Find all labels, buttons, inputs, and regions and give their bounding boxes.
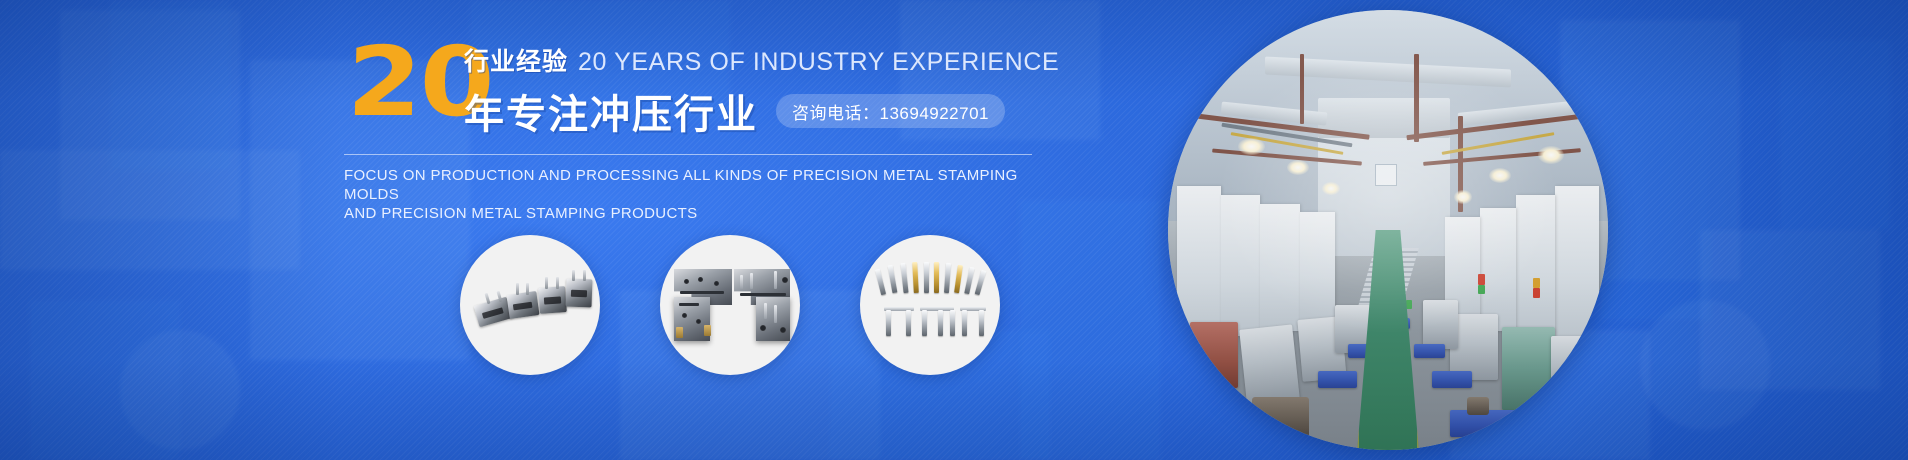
headline-line-top: 行业经验 20 YEARS OF INDUSTRY EXPERIENCE: [464, 42, 1059, 78]
connector-shells-image: [460, 235, 600, 375]
photo-lighting-overlay: [1168, 10, 1608, 450]
promo-banner: 20 行业经验 20 YEARS OF INDUSTRY EXPERIENCE …: [0, 0, 1908, 460]
stamping-die-image: [660, 235, 800, 375]
subtitle-text: FOCUS ON PRODUCTION AND PROCESSING ALL K…: [344, 166, 1044, 223]
product-circle-metal-connector-shells[interactable]: [460, 235, 600, 375]
experience-label-cn: 行业经验: [464, 42, 568, 78]
experience-label-en: 20 YEARS OF INDUSTRY EXPERIENCE: [578, 48, 1059, 77]
subtitle-line-1: FOCUS ON PRODUCTION AND PROCESSING ALL K…: [344, 166, 1044, 204]
contact-phone-badge[interactable]: 咨询电话：13694922701: [776, 94, 1005, 128]
metal-terminals-image: [860, 235, 1000, 375]
factory-workshop-photo[interactable]: [1168, 10, 1608, 450]
subtitle-line-2: AND PRECISION METAL STAMPING PRODUCTS: [344, 204, 1044, 223]
headline-row: 20 行业经验 20 YEARS OF INDUSTRY EXPERIENCE …: [340, 38, 1100, 138]
industry-focus-cn: 年专注冲压行业: [464, 82, 758, 140]
headline-texts: 行业经验 20 YEARS OF INDUSTRY EXPERIENCE 年专注…: [464, 42, 1059, 140]
headline-line-main: 年专注冲压行业 咨询电话：13694922701: [464, 82, 1059, 140]
product-circle-stamping-die[interactable]: [660, 235, 800, 375]
product-circle-metal-terminals[interactable]: [860, 235, 1000, 375]
headline-divider: [344, 154, 1032, 155]
headline-block: 20 行业经验 20 YEARS OF INDUSTRY EXPERIENCE …: [340, 38, 1100, 218]
